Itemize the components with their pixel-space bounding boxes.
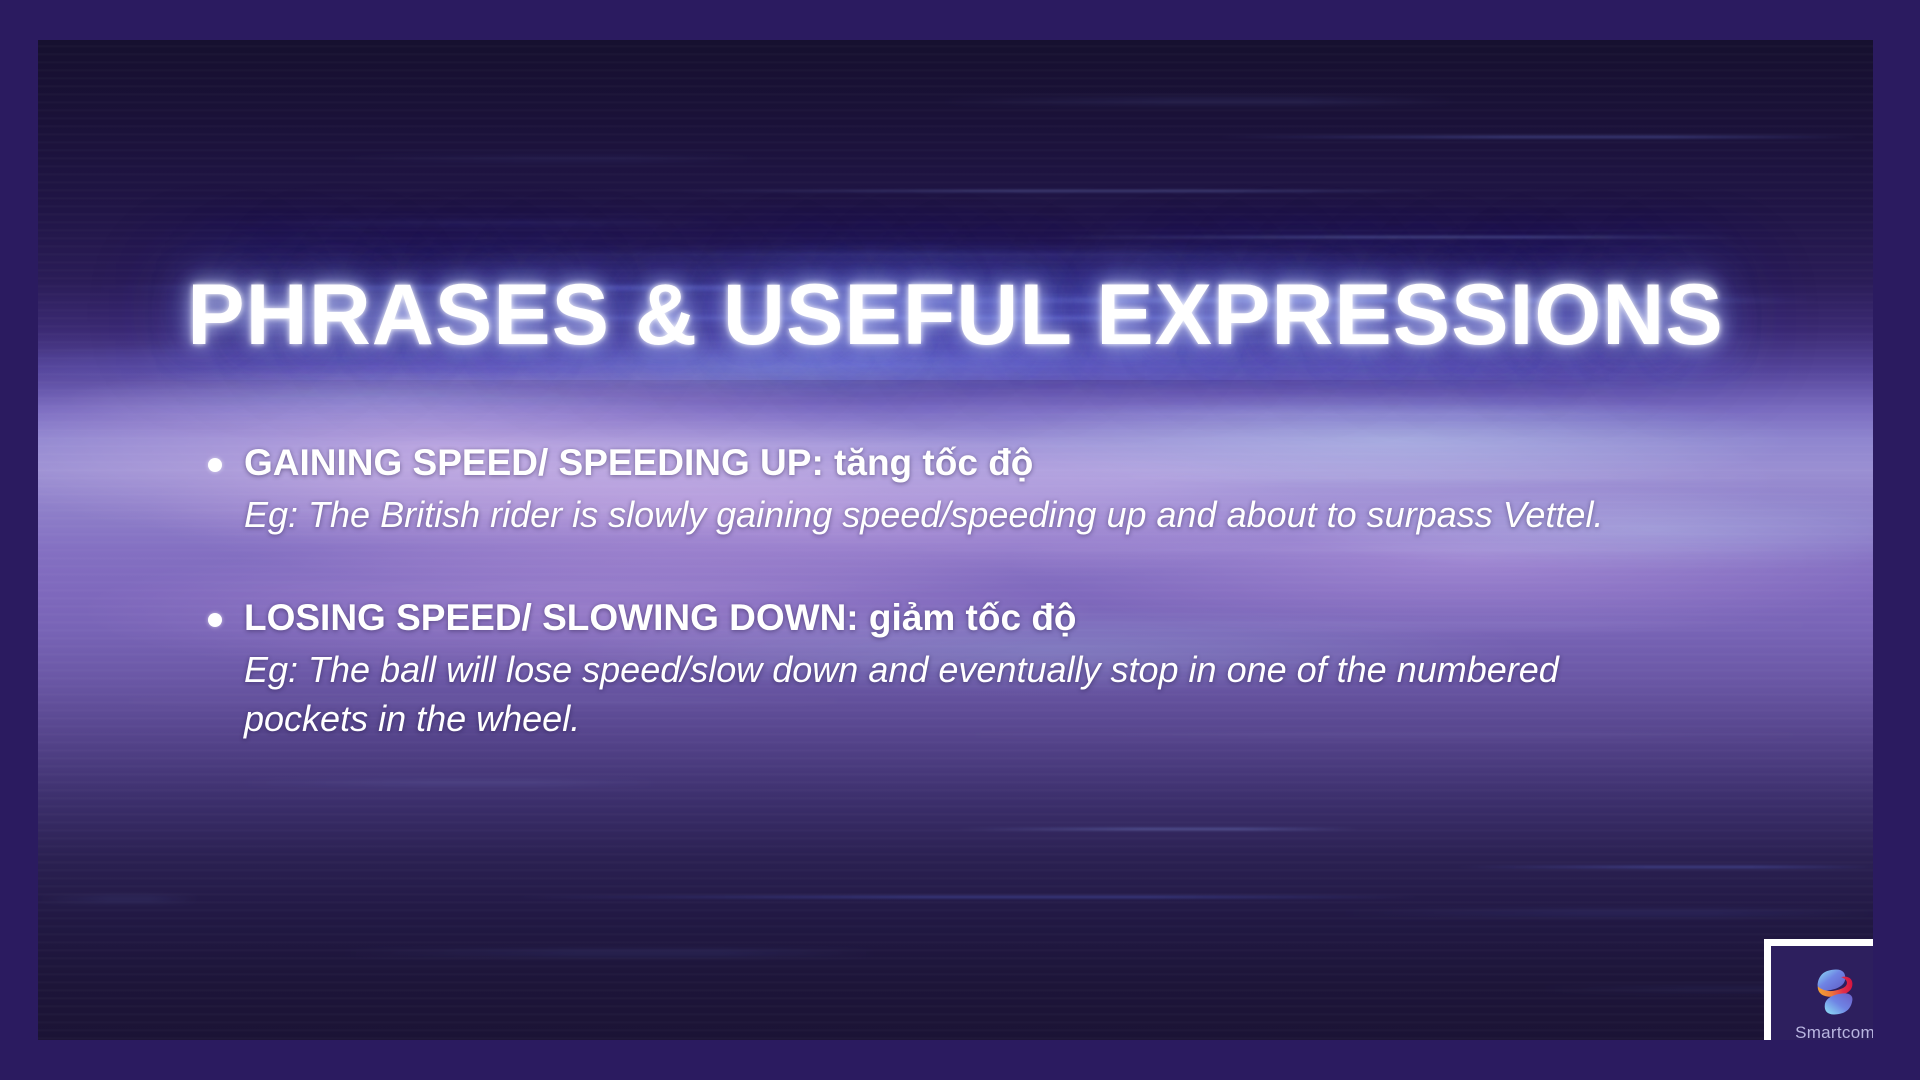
speed-streak [518,896,1418,898]
speed-streak [158,380,858,382]
brand-logo-inner: Smartcom English & EdTech [1771,946,1873,1040]
speed-streak [1338,912,1873,914]
bullet-dot-icon [208,613,222,627]
speed-streak [938,412,1738,414]
speed-streak [1218,136,1858,138]
phrase-example: Eg: The ball will lose speed/slow down a… [244,646,1664,742]
speed-streak [678,190,1438,192]
phrase-example: Eg: The British rider is slowly gaining … [244,491,1664,539]
list-item: GAINING SPEED/ SPEEDING UP: tăng tốc độ … [208,440,1768,539]
speed-streak [218,222,718,224]
brand-logo-card: Smartcom English & EdTech [1764,939,1873,1040]
list-item: LOSING SPEED/ SLOWING DOWN: giảm tốc độ … [208,595,1768,743]
phrase-term: GAINING SPEED/ SPEEDING UP: tăng tốc độ [244,440,1033,485]
speed-streak [1038,236,1738,238]
bullet-dot-icon [208,458,222,472]
speed-streak [38,898,198,900]
bullet-row: LOSING SPEED/ SLOWING DOWN: giảm tốc độ [208,595,1768,640]
slide-root: PHRASES & USEFUL EXPRESSIONS GAINING SPE… [0,0,1920,1080]
speed-streak [238,782,658,784]
bullet-row: GAINING SPEED/ SPEEDING UP: tăng tốc độ [208,440,1768,485]
brand-name: Smartcom [1795,1024,1873,1040]
page-title: PHRASES & USEFUL EXPRESSIONS [38,266,1873,365]
speed-streak [958,828,1358,830]
slide-panel: PHRASES & USEFUL EXPRESSIONS GAINING SPE… [38,40,1873,1040]
smartcom-s-mark-icon [1804,964,1866,1020]
speed-streak [1458,866,1873,868]
phrase-list: GAINING SPEED/ SPEEDING UP: tăng tốc độ … [208,440,1768,743]
speed-streak [938,100,1458,102]
speed-streak [338,158,758,160]
phrase-term: LOSING SPEED/ SLOWING DOWN: giảm tốc độ [244,595,1077,640]
speed-streak [338,952,878,954]
speed-streak [458,254,1338,256]
